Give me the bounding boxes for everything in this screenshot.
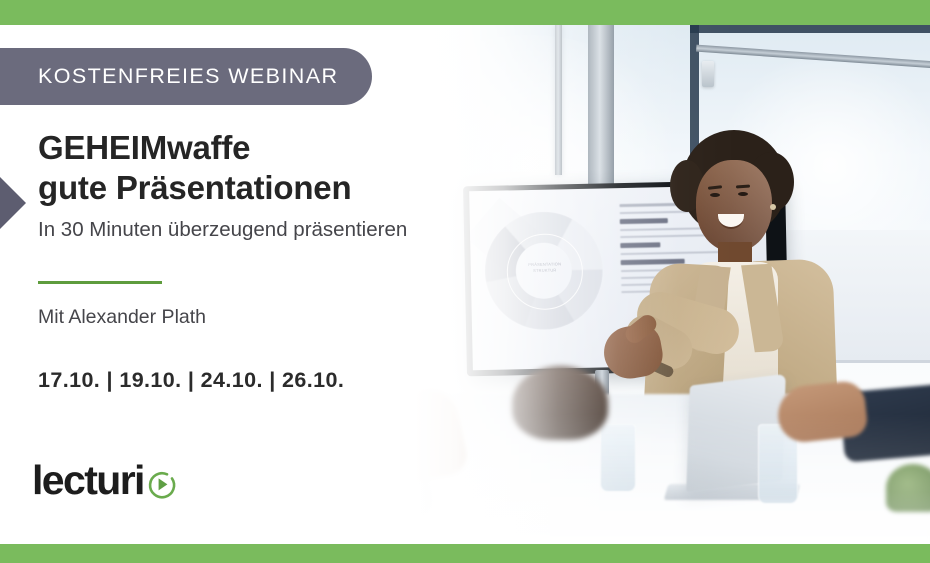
water-glass — [600, 424, 636, 492]
presenter-face-shading — [696, 160, 772, 252]
lecturio-logo-text: lecturi — [32, 460, 144, 501]
window-frame-horizontal — [690, 25, 930, 33]
lecturio-logo: lecturi — [32, 460, 177, 501]
slide-donut-label: PRÄSENTATION STRUKTUR — [523, 261, 567, 274]
green-divider — [38, 281, 162, 284]
webinar-dates: 17.10. | 19.10. | 24.10. | 26.10. — [38, 368, 344, 393]
page-title: GEHEIMwaffe gute Präsentationen — [38, 128, 428, 209]
free-webinar-badge: KOSTENFREIES WEBINAR — [0, 48, 372, 105]
page-subtitle: In 30 Minuten überzeugend präsentieren — [38, 218, 407, 242]
play-circle-icon — [146, 469, 177, 500]
free-webinar-badge-label: KOSTENFREIES WEBINAR — [38, 64, 338, 89]
banner-content: KOSTENFREIES WEBINAR GEHEIMwaffe gute Pr… — [0, 25, 430, 544]
headline-line-2: gute Präsentationen — [38, 168, 428, 208]
presenter-eye-right — [738, 192, 748, 196]
monitor-mount-pole — [588, 25, 614, 193]
table-plant — [886, 464, 930, 512]
webinar-banner: PRÄSENTATION STRUKTUR — [0, 0, 930, 563]
top-green-band — [0, 0, 930, 25]
audience-head-foreground — [512, 366, 608, 440]
presenter-eye-left — [710, 193, 720, 197]
presenter-earring — [770, 204, 776, 210]
window-mullion-left — [555, 25, 562, 175]
arrow-pointer-icon — [0, 177, 26, 229]
speaker-name: Mit Alexander Plath — [38, 306, 206, 329]
bottom-green-band — [0, 544, 930, 563]
window-sensor-icon — [702, 61, 714, 87]
headline-line-1: GEHEIMwaffe — [38, 128, 428, 168]
